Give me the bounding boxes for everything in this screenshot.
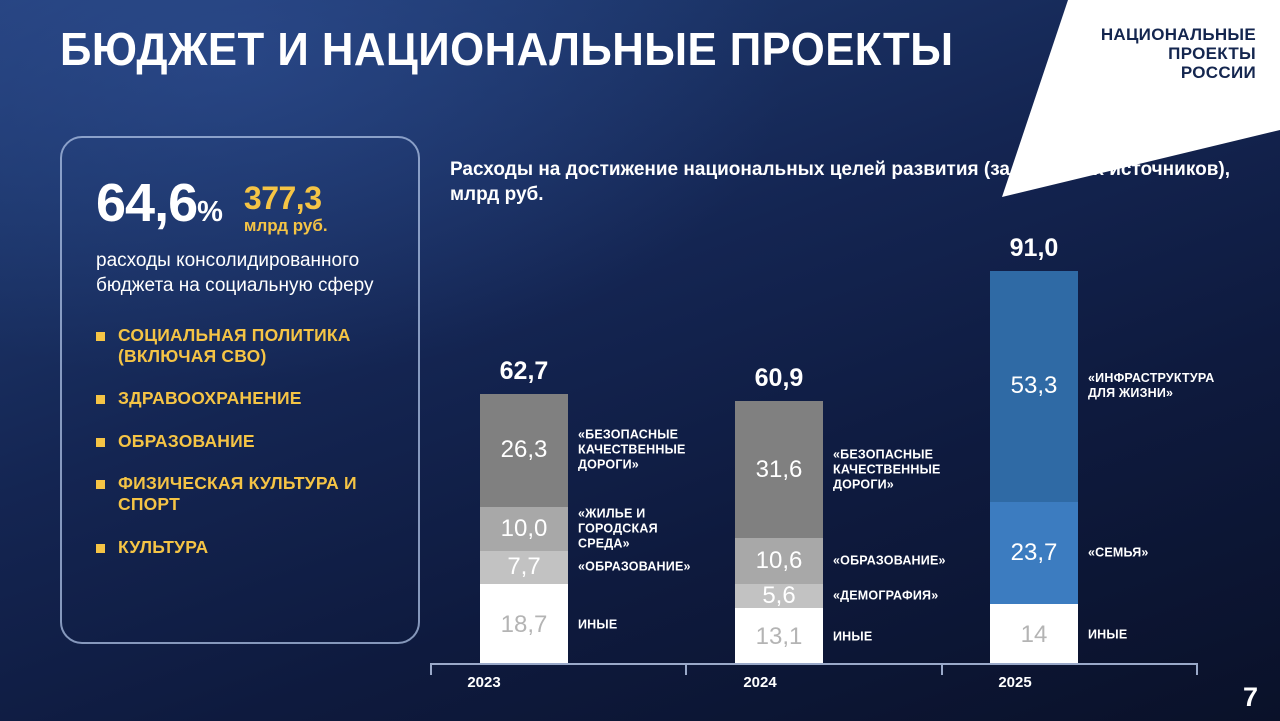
segment-label: «ОБРАЗОВАНИЕ» [578,560,691,575]
segment-label: «БЕЗОПАСНЫЕ КАЧЕСТВЕННЫЕ ДОРОГИ» [578,428,686,473]
percent-sign: % [197,196,222,228]
page-title: БЮДЖЕТ И НАЦИОНАЛЬНЫЕ ПРОЕКТЫ [60,22,953,76]
bullet-square-icon [96,544,105,553]
list-item-label: ФИЗИЧЕСКАЯ КУЛЬТУРА И СПОРТ [118,473,392,516]
segment-label: «ОБРАЗОВАНИЕ» [833,554,946,569]
list-item: КУЛЬТУРА [96,537,392,558]
bullet-square-icon [96,480,105,489]
segment-label: «ИНФРАСТРУКТУРА ДЛЯ ЖИЗНИ» [1088,371,1215,401]
segment-label: «БЕЗОПАСНЫЕ КАЧЕСТВЕННЫЕ ДОРОГИ» [833,447,941,492]
bar-segment: 13,1ИНЫЕ [735,608,823,665]
percent-value: 64,6 [96,173,197,233]
axis-tick [941,663,943,675]
card-description: расходы консолидированного бюджета на со… [96,248,392,298]
stacked-bar: 31,6«БЕЗОПАСНЫЕ КАЧЕСТВЕННЫЕ ДОРОГИ»10,6… [735,401,823,665]
bar-segment: 26,3«БЕЗОПАСНЫЕ КАЧЕСТВЕННЫЕ ДОРОГИ» [480,394,568,508]
chart-title: Расходы на достижение национальных целей… [450,157,1280,207]
axis-tick [1196,663,1198,675]
bar-segment: 5,6«ДЕМОГРАФИЯ» [735,584,823,608]
logo-line-3: РОССИИ [1101,63,1256,82]
segment-label: ИНЫЕ [578,617,617,632]
list-item: ФИЗИЧЕСКАЯ КУЛЬТУРА И СПОРТ [96,473,392,516]
list-item-label: КУЛЬТУРА [118,537,208,558]
segment-value: 13,1 [735,625,823,649]
list-item: ЗДРАВООХРАНЕНИЕ [96,388,392,409]
logo-line-1: НАЦИОНАЛЬНЫЕ [1101,25,1256,44]
list-item-label: ЗДРАВООХРАНЕНИЕ [118,388,302,409]
bar-segment: 53,3«ИНФРАСТРУКТУРА ДЛЯ ЖИЗНИ» [990,271,1078,502]
stacked-bar: 53,3«ИНФРАСТРУКТУРА ДЛЯ ЖИЗНИ»23,7«СЕМЬЯ… [990,271,1078,665]
segment-value: 10,0 [480,517,568,541]
page-number: 7 [1243,682,1258,713]
list-item: ОБРАЗОВАНИЕ [96,431,392,452]
segment-value: 53,3 [990,374,1078,398]
logo-line-2: ПРОЕКТЫ [1101,44,1256,63]
axis-label-2024: 2024 [700,674,820,691]
axis-tick [685,663,687,675]
bar-total-label: 62,7 [469,357,579,386]
segment-value: 26,3 [480,438,568,462]
bullet-square-icon [96,332,105,341]
stacked-bar-chart: 26,3«БЕЗОПАСНЫЕ КАЧЕСТВЕННЫЕ ДОРОГИ»10,0… [430,225,1260,665]
segment-value: 18,7 [480,613,568,637]
amount-unit: млрд руб. [244,216,328,236]
bar-segment: 14ИНЫЕ [990,604,1078,665]
logo-text: НАЦИОНАЛЬНЫЕ ПРОЕКТЫ РОССИИ [1101,25,1256,83]
bullet-square-icon [96,438,105,447]
stat-row: 64,6% 377,3 млрд руб. [96,178,392,236]
list-item-label: ОБРАЗОВАНИЕ [118,431,255,452]
bar-segment: 31,6«БЕЗОПАСНЫЕ КАЧЕСТВЕННЫЕ ДОРОГИ» [735,401,823,538]
stacked-bar: 26,3«БЕЗОПАСНЫЕ КАЧЕСТВЕННЫЕ ДОРОГИ»10,0… [480,394,568,665]
social-sphere-list: СОЦИАЛЬНАЯ ПОЛИТИКА (ВКЛЮЧАЯ СВО) ЗДРАВО… [96,325,392,558]
segment-label: «ДЕМОГРАФИЯ» [833,589,938,604]
segment-value: 14 [990,623,1078,647]
axis-label-2025: 2025 [955,674,1075,691]
segment-label: ИНЫЕ [1088,627,1127,642]
segment-label: «ЖИЛЬЕ И ГОРОДСКАЯ СРЕДА» [578,507,658,552]
bullet-square-icon [96,395,105,404]
axis-line [430,663,1198,665]
segment-value: 10,6 [735,549,823,573]
bar-segment: 23,7«СЕМЬЯ» [990,502,1078,605]
segment-value: 23,7 [990,541,1078,565]
segment-label: ИНЫЕ [833,629,872,644]
segment-value: 7,7 [480,555,568,579]
segment-label: «СЕМЬЯ» [1088,546,1149,561]
list-item: СОЦИАЛЬНАЯ ПОЛИТИКА (ВКЛЮЧАЯ СВО) [96,325,392,368]
segment-value: 5,6 [735,584,823,608]
bar-total-label: 60,9 [724,364,834,393]
bar-segment: 10,0«ЖИЛЬЕ И ГОРОДСКАЯ СРЕДА» [480,507,568,550]
percent-stat: 64,6% [96,178,222,229]
social-spending-card: 64,6% 377,3 млрд руб. расходы консолидир… [60,136,420,644]
list-item-label: СОЦИАЛЬНАЯ ПОЛИТИКА (ВКЛЮЧАЯ СВО) [118,325,392,368]
bar-segment: 10,6«ОБРАЗОВАНИЕ» [735,538,823,584]
amount-value: 377,3 [244,182,328,214]
segment-value: 31,6 [735,458,823,482]
bar-total-label: 91,0 [979,234,1089,263]
bar-segment: 7,7«ОБРАЗОВАНИЕ» [480,551,568,584]
amount-stat: 377,3 млрд руб. [244,178,328,236]
bar-segment: 18,7ИНЫЕ [480,584,568,665]
axis-label-2023: 2023 [424,674,544,691]
